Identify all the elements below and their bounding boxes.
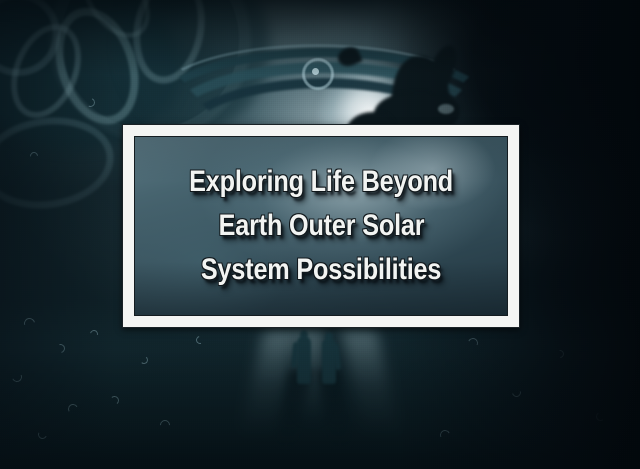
title-card-panel: Exploring Life Beyond Earth Outer Solar … [134, 136, 508, 316]
title-line-2: Earth Outer Solar [218, 211, 424, 241]
scene-canvas: Exploring Life Beyond Earth Outer Solar … [0, 0, 640, 469]
title-line-3: System Possibilities [201, 255, 441, 285]
title-line-1: Exploring Life Beyond [189, 167, 453, 197]
title-card: Exploring Life Beyond Earth Outer Solar … [122, 124, 520, 328]
